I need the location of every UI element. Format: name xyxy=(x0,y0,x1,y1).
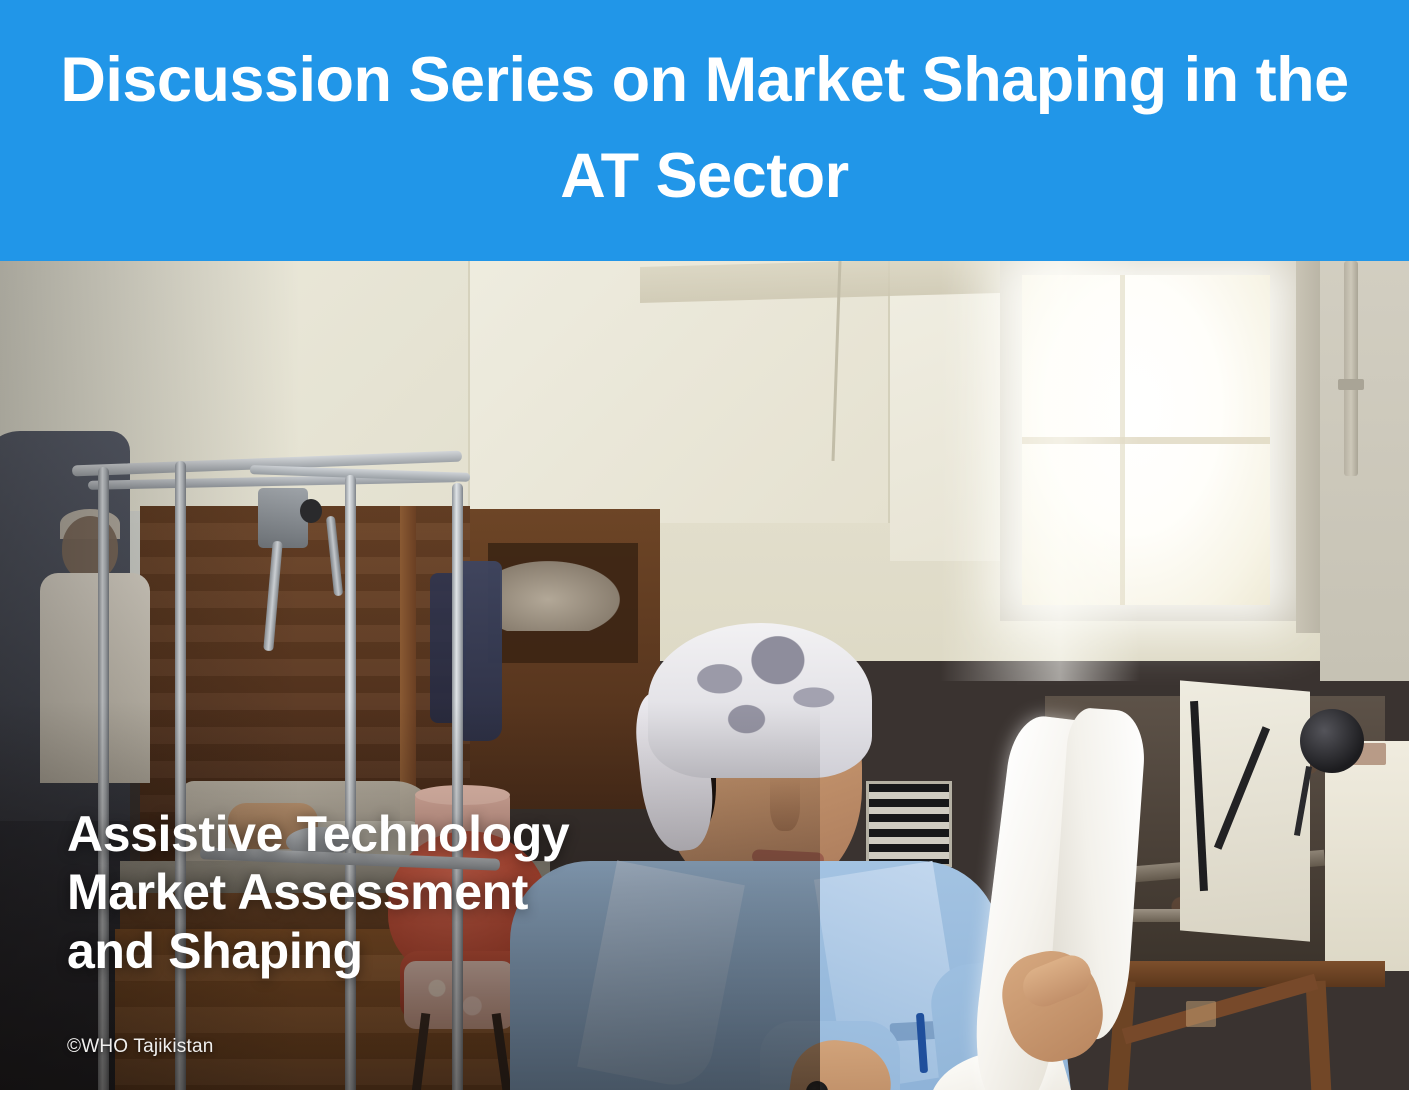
photo-pressure-gauge xyxy=(1300,709,1364,773)
overlay-title-line-1: Assistive Technology xyxy=(67,805,569,864)
page-title: Discussion Series on Market Shaping in t… xyxy=(60,33,1350,229)
hero-photo: Assistive Technology Market Assessment a… xyxy=(0,261,1409,1090)
photo-vent-grille xyxy=(866,781,952,867)
overlay-title-line-3: and Shaping xyxy=(67,922,569,981)
header-banner: Discussion Series on Market Shaping in t… xyxy=(0,0,1409,261)
photo-shelf-items xyxy=(500,561,620,631)
photo-stand-leg-2 xyxy=(1306,981,1335,1090)
bottom-strip xyxy=(0,1090,1409,1107)
photo-wall-far-right xyxy=(1320,261,1409,681)
photo-credit: ©WHO Tajikistan xyxy=(67,1036,214,1058)
overlay-title-line-2: Market Assessment xyxy=(67,863,569,922)
photo-overlay-title: Assistive Technology Market Assessment a… xyxy=(67,805,569,981)
photo-wall-pipe xyxy=(1344,261,1358,476)
photo-stand-marking xyxy=(1186,1001,1216,1027)
photo-window-glare xyxy=(940,261,1140,681)
slide-canvas: Discussion Series on Market Shaping in t… xyxy=(0,0,1409,1107)
photo-machine-panel xyxy=(1325,741,1409,971)
photo-window-post xyxy=(1296,261,1322,633)
photo-pipe-bracket xyxy=(1338,379,1364,390)
photo-frame-knob xyxy=(300,499,322,523)
